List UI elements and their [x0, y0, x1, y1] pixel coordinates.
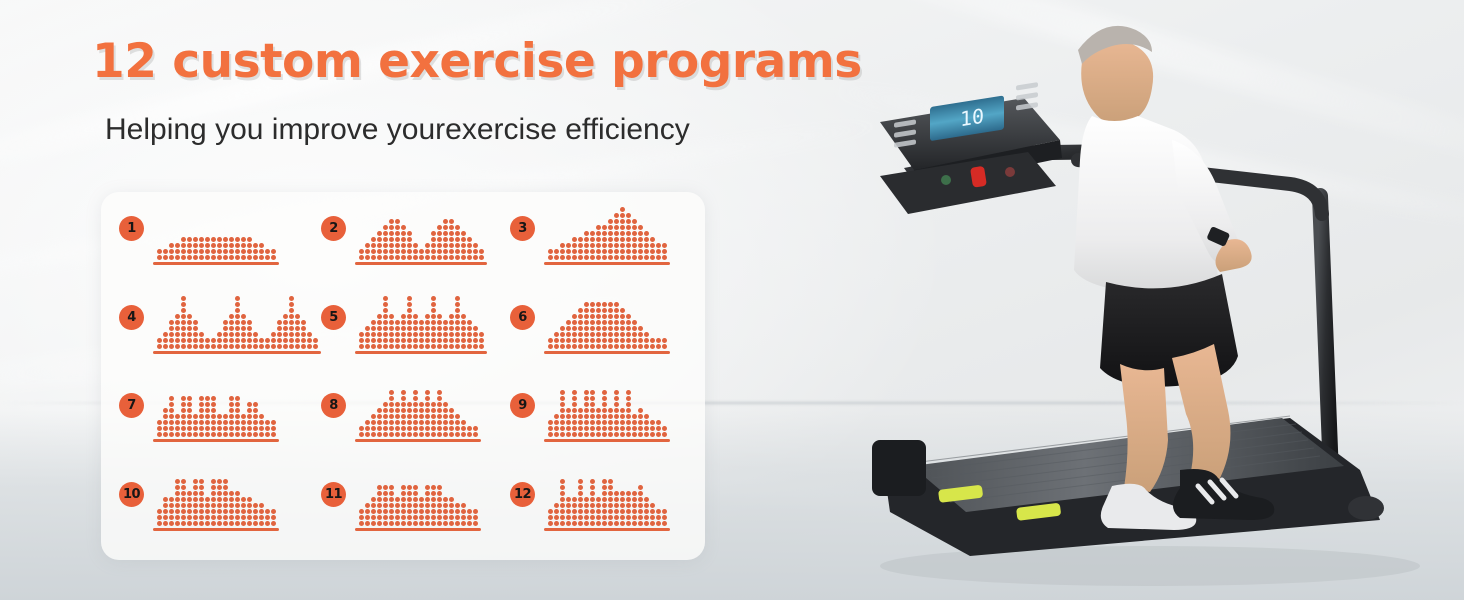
profile-dot	[443, 243, 448, 248]
profile-dot	[431, 344, 436, 349]
profile-dot	[413, 408, 418, 413]
profile-dot	[407, 497, 412, 502]
profile-dot	[656, 426, 661, 431]
profile-column	[199, 396, 204, 437]
profile-dot	[205, 237, 210, 242]
profile-dot	[371, 243, 376, 248]
profile-dot	[223, 414, 228, 419]
profile-dot	[229, 344, 234, 349]
profile-dot	[253, 420, 258, 425]
profile-dot	[614, 390, 619, 395]
profile-dot	[566, 408, 571, 413]
profile-dot	[211, 237, 216, 242]
profile-dot	[389, 485, 394, 490]
profile-dot	[247, 402, 252, 407]
profile-dot	[395, 225, 400, 230]
profile-dot	[626, 390, 631, 395]
profile-dot	[365, 243, 370, 248]
profile-dot	[253, 432, 258, 437]
profile-columns	[359, 293, 484, 349]
profile-dot	[235, 326, 240, 331]
profile-dot	[241, 344, 246, 349]
rear-roller-cap	[1348, 496, 1384, 520]
profile-dot	[560, 249, 565, 254]
profile-dot	[638, 432, 643, 437]
profile-dot	[614, 231, 619, 236]
profile-dot	[389, 243, 394, 248]
profile-dot	[443, 509, 448, 514]
profile-dot	[247, 326, 252, 331]
profile-dot	[223, 326, 228, 331]
profile-dot	[235, 344, 240, 349]
profile-dot	[626, 521, 631, 526]
profile-column	[443, 320, 448, 349]
program-item[interactable]: 8	[321, 377, 510, 466]
profile-dot	[608, 308, 613, 313]
profile-dot	[578, 344, 583, 349]
profile-dot	[271, 338, 276, 343]
profile-dot	[175, 479, 180, 484]
profile-dot	[449, 314, 454, 319]
profile-dot	[614, 332, 619, 337]
profile-dot	[644, 237, 649, 242]
profile-column	[383, 485, 388, 526]
profile-dot	[169, 408, 174, 413]
profile-dot	[443, 515, 448, 520]
profile-dot	[395, 243, 400, 248]
profile-column	[449, 314, 454, 349]
program-item[interactable]: 5	[321, 289, 510, 378]
profile-column	[632, 491, 637, 526]
program-number-badge: 12	[510, 482, 535, 507]
profile-dot	[572, 338, 577, 343]
profile-column	[455, 414, 460, 437]
profile-dot	[413, 332, 418, 337]
program-number-badge: 8	[321, 393, 346, 418]
profile-dot	[566, 249, 571, 254]
profile-dot	[205, 509, 210, 514]
profile-dot	[650, 420, 655, 425]
profile-dot	[548, 426, 553, 431]
profile-dot	[590, 326, 595, 331]
profile-dot	[199, 420, 204, 425]
profile-dot	[359, 509, 364, 514]
profile-dot	[247, 426, 252, 431]
profile-dot	[377, 503, 382, 508]
profile-column	[259, 338, 264, 349]
profile-dot	[425, 402, 430, 407]
profile-dot	[223, 237, 228, 242]
profile-dot	[425, 332, 430, 337]
profile-column	[365, 503, 370, 526]
profile-dot	[365, 515, 370, 520]
profile-dot	[467, 426, 472, 431]
profile-dot	[602, 497, 607, 502]
profile-dot	[590, 491, 595, 496]
profile-dot	[608, 515, 613, 520]
profile-dot	[644, 420, 649, 425]
profile-dot	[205, 497, 210, 502]
profile-dot	[371, 237, 376, 242]
profile-dot	[626, 515, 631, 520]
program-item[interactable]: 6	[510, 289, 699, 378]
program-item[interactable]: 1	[119, 200, 321, 289]
profile-dot	[383, 255, 388, 260]
profile-columns	[157, 381, 276, 437]
profile-dot	[620, 314, 625, 319]
profile-dot	[193, 479, 198, 484]
profile-dot	[229, 414, 234, 419]
profile-dot	[431, 231, 436, 236]
profile-column	[632, 414, 637, 437]
profile-dot	[443, 402, 448, 407]
profile-dot	[437, 396, 442, 401]
profile-dot	[584, 515, 589, 520]
profile-dot	[560, 491, 565, 496]
profile-dot	[389, 249, 394, 254]
program-item[interactable]: 7	[119, 377, 321, 466]
profile-dot	[169, 515, 174, 520]
profile-dot	[554, 432, 559, 437]
profile-dot	[572, 521, 577, 526]
profile-dot	[401, 497, 406, 502]
profile-dot	[259, 509, 264, 514]
program-item[interactable]: 3	[510, 200, 699, 289]
profile-dot	[461, 503, 466, 508]
profile-dot	[578, 432, 583, 437]
profile-dot	[443, 408, 448, 413]
profile-dot	[572, 326, 577, 331]
profile-dot	[596, 255, 601, 260]
profile-dot	[662, 255, 667, 260]
profile-column	[217, 479, 222, 526]
profile-dot	[449, 237, 454, 242]
profile-dot	[205, 249, 210, 254]
profile-dot	[455, 338, 460, 343]
profile-dot	[602, 225, 607, 230]
profile-column	[389, 485, 394, 526]
profile-dot	[425, 426, 430, 431]
profile-column	[193, 320, 198, 349]
profile-dot	[235, 432, 240, 437]
profile-dot	[578, 243, 583, 248]
profile-dot	[253, 414, 258, 419]
profile-dot	[419, 249, 424, 254]
profile-dot	[401, 396, 406, 401]
profile-dot	[271, 249, 276, 254]
profile-dot	[596, 338, 601, 343]
profile-dot	[548, 344, 553, 349]
profile-dot	[455, 344, 460, 349]
profile-dot	[662, 338, 667, 343]
profile-dot	[479, 249, 484, 254]
profile-column	[241, 237, 246, 260]
profile-dot	[479, 332, 484, 337]
profile-column	[163, 332, 168, 349]
profile-dot	[235, 515, 240, 520]
profile-dot	[437, 332, 442, 337]
profile-column	[449, 497, 454, 526]
profile-dot	[241, 414, 246, 419]
profile-dot	[241, 420, 246, 425]
profile-dot	[169, 402, 174, 407]
profile-dot	[169, 344, 174, 349]
profile-dot	[187, 432, 192, 437]
profile-dot	[199, 402, 204, 407]
profile-dot	[620, 414, 625, 419]
program-intensity-profile	[355, 470, 481, 531]
profile-dot	[590, 402, 595, 407]
profile-dot	[181, 344, 186, 349]
profile-dot	[638, 426, 643, 431]
profile-dot	[650, 515, 655, 520]
profile-dot	[377, 515, 382, 520]
profile-dot	[620, 408, 625, 413]
profile-dot	[187, 332, 192, 337]
profile-baseline	[355, 528, 481, 531]
profile-dot	[449, 320, 454, 325]
profile-dot	[578, 485, 583, 490]
profile-dot	[584, 302, 589, 307]
profile-dot	[620, 237, 625, 242]
profile-dot	[187, 408, 192, 413]
profile-dot	[377, 255, 382, 260]
profile-dot	[211, 491, 216, 496]
profile-dot	[638, 231, 643, 236]
program-item[interactable]: 4	[119, 289, 321, 378]
profile-column	[383, 296, 388, 349]
profile-dot	[590, 509, 595, 514]
profile-dot	[425, 491, 430, 496]
profile-dot	[175, 243, 180, 248]
profile-dot	[560, 255, 565, 260]
profile-dot	[401, 432, 406, 437]
profile-dot	[211, 396, 216, 401]
profile-dot	[193, 426, 198, 431]
profile-column	[181, 396, 186, 437]
profile-column	[157, 249, 162, 260]
profile-dot	[407, 515, 412, 520]
profile-dot	[554, 521, 559, 526]
profile-dot	[449, 255, 454, 260]
profile-column	[626, 213, 631, 260]
profile-dot	[455, 225, 460, 230]
profile-dot	[608, 332, 613, 337]
profile-dot	[449, 326, 454, 331]
profile-dot	[265, 426, 270, 431]
profile-dot	[614, 491, 619, 496]
profile-dot	[596, 515, 601, 520]
profile-dot	[560, 402, 565, 407]
profile-dot	[566, 338, 571, 343]
profile-column	[247, 320, 252, 349]
profile-dot	[596, 225, 601, 230]
program-intensity-profile	[355, 381, 481, 442]
profile-dot	[467, 320, 472, 325]
profile-dot	[199, 414, 204, 419]
profile-column	[632, 219, 637, 260]
profile-dot	[650, 432, 655, 437]
profile-dot	[359, 521, 364, 526]
profile-dot	[626, 491, 631, 496]
profile-dot	[271, 426, 276, 431]
profile-dot	[584, 390, 589, 395]
profile-dot	[644, 497, 649, 502]
profile-dot	[437, 521, 442, 526]
profile-dot	[241, 432, 246, 437]
profile-dot	[169, 497, 174, 502]
profile-column	[455, 225, 460, 260]
profile-dot	[217, 332, 222, 337]
profile-columns	[548, 381, 667, 437]
profile-dot	[431, 485, 436, 490]
profile-dot	[247, 255, 252, 260]
profile-dot	[662, 521, 667, 526]
profile-column	[461, 420, 466, 437]
profile-column	[205, 237, 210, 260]
profile-baseline	[153, 439, 279, 442]
profile-dot	[211, 414, 216, 419]
profile-dot	[407, 249, 412, 254]
profile-dot	[181, 314, 186, 319]
profile-dot	[437, 390, 442, 395]
profile-dot	[389, 408, 394, 413]
profile-dot	[157, 509, 162, 514]
profile-dot	[413, 521, 418, 526]
profile-dot	[419, 426, 424, 431]
profile-dot	[235, 414, 240, 419]
profile-dot	[479, 338, 484, 343]
profile-column	[650, 237, 655, 260]
profile-dot	[401, 414, 406, 419]
program-item[interactable]: 9	[510, 377, 699, 466]
profile-column	[223, 479, 228, 526]
profile-dot	[566, 509, 571, 514]
profile-dot	[301, 332, 306, 337]
profile-dot	[205, 408, 210, 413]
profile-dot	[401, 491, 406, 496]
profile-dot	[650, 338, 655, 343]
profile-dot	[271, 515, 276, 520]
profile-column	[359, 249, 364, 260]
profile-column	[163, 497, 168, 526]
profile-baseline	[153, 528, 279, 531]
profile-dot	[307, 344, 312, 349]
profile-dot	[193, 521, 198, 526]
profile-dot	[554, 426, 559, 431]
profile-dot	[614, 314, 619, 319]
profile-dot	[401, 338, 406, 343]
profile-column	[295, 314, 300, 349]
profile-dot	[590, 479, 595, 484]
profile-dot	[443, 426, 448, 431]
profile-dot	[169, 249, 174, 254]
profile-column	[247, 497, 252, 526]
program-grid: 123456789101112	[101, 192, 705, 560]
profile-dot	[253, 402, 258, 407]
profile-dot	[548, 420, 553, 425]
profile-dot	[229, 497, 234, 502]
profile-dot	[455, 515, 460, 520]
profile-dot	[632, 326, 637, 331]
profile-dot	[467, 332, 472, 337]
profile-dot	[620, 420, 625, 425]
profile-dot	[383, 296, 388, 301]
program-item[interactable]: 11	[321, 466, 510, 555]
profile-dot	[437, 243, 442, 248]
profile-dot	[407, 509, 412, 514]
profile-dot	[401, 503, 406, 508]
profile-dot	[602, 332, 607, 337]
program-item[interactable]: 12	[510, 466, 699, 555]
profile-column	[389, 219, 394, 260]
profile-dot	[169, 326, 174, 331]
profile-dot	[614, 213, 619, 218]
profile-dot	[211, 255, 216, 260]
profile-dot	[377, 408, 382, 413]
profile-column	[211, 396, 216, 437]
profile-column	[473, 326, 478, 349]
profile-dot	[295, 314, 300, 319]
program-item[interactable]: 2	[321, 200, 510, 289]
profile-dot	[371, 497, 376, 502]
profile-dot	[371, 509, 376, 514]
profile-dot	[419, 420, 424, 425]
profile-dot	[455, 243, 460, 248]
profile-dot	[656, 255, 661, 260]
profile-dot	[608, 255, 613, 260]
profile-column	[425, 243, 430, 260]
profile-dot	[389, 231, 394, 236]
profile-dot	[371, 320, 376, 325]
profile-dot	[590, 497, 595, 502]
profile-dot	[181, 237, 186, 242]
profile-dot	[187, 402, 192, 407]
profile-baseline	[355, 351, 487, 354]
profile-column	[235, 491, 240, 526]
profile-dot	[175, 414, 180, 419]
profile-dot	[205, 521, 210, 526]
profile-column	[596, 302, 601, 349]
start-button	[941, 175, 951, 185]
profile-dot	[602, 249, 607, 254]
profile-dot	[223, 332, 228, 337]
profile-dot	[223, 485, 228, 490]
profile-dot	[620, 249, 625, 254]
profile-dot	[584, 326, 589, 331]
profile-dot	[407, 332, 412, 337]
profile-dot	[614, 338, 619, 343]
profile-dot	[211, 420, 216, 425]
profile-column	[644, 497, 649, 526]
profile-dot	[632, 426, 637, 431]
program-item[interactable]: 10	[119, 466, 321, 555]
profile-column	[560, 390, 565, 437]
profile-dot	[638, 414, 643, 419]
profile-dot	[560, 485, 565, 490]
profile-dot	[181, 243, 186, 248]
profile-dot	[620, 426, 625, 431]
profile-dot	[383, 491, 388, 496]
profile-dot	[169, 509, 174, 514]
profile-column	[644, 414, 649, 437]
profile-dot	[289, 308, 294, 313]
profile-dot	[259, 255, 264, 260]
profile-dot	[223, 320, 228, 325]
profile-dot	[383, 243, 388, 248]
profile-dot	[413, 515, 418, 520]
profile-dot	[644, 338, 649, 343]
